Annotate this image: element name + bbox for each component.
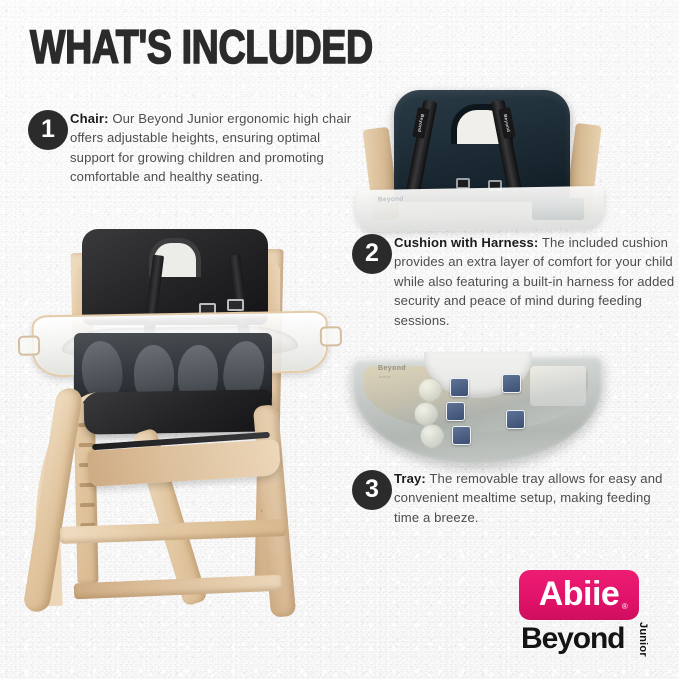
- tray-window-reflection: [530, 366, 586, 406]
- list-item-label: Chair:: [70, 111, 109, 126]
- page-title: WHAT'S INCLUDED: [30, 21, 373, 73]
- badge-number-1: 1: [28, 110, 68, 150]
- brand-logo: Abiie® Beyond Junior: [519, 570, 655, 666]
- cushion-tray-label: Beyond: [378, 196, 404, 204]
- logo-badge-abiie: Abiie®: [519, 570, 639, 620]
- tray-safety-icon: [452, 426, 471, 445]
- tray-reflection-circle: [420, 424, 444, 448]
- logo-trademark: ®: [622, 603, 627, 611]
- product-image-chair: [26, 205, 344, 665]
- chair-tray-arm-left: [18, 335, 40, 355]
- product-image-tray: Beyond Junior: [352, 356, 604, 464]
- logo-product-text: Beyond: [521, 624, 624, 654]
- list-item-text: Tray: The removable tray allows for easy…: [394, 469, 672, 527]
- tray-safety-icon: [446, 402, 465, 421]
- list-item-body: Our Beyond Junior ergonomic high chair o…: [70, 111, 351, 184]
- list-item-text: Cushion with Harness: The included cushi…: [394, 233, 679, 330]
- logo-product-suffix: Junior: [637, 622, 649, 657]
- badge-number-3: 3: [352, 470, 392, 510]
- list-item-text: Chair: Our Beyond Junior ergonomic high …: [70, 109, 352, 187]
- logo-brand-word: Abiie: [539, 575, 620, 613]
- tray-brand-sublabel: Junior: [378, 374, 391, 379]
- list-item-label: Cushion with Harness:: [394, 235, 538, 250]
- logo-brand-text: Abiie®: [539, 577, 620, 614]
- tray-safety-icon: [450, 378, 469, 397]
- chair-back-cushion: [82, 229, 268, 325]
- chair-tray-arm-right: [320, 326, 342, 346]
- product-image-cushion: Beyond Beyond Beyond: [352, 88, 618, 228]
- tray-brand-label: Beyond: [378, 365, 406, 372]
- tray-reflection-circle: [414, 402, 438, 426]
- list-item-body: The removable tray allows for easy and c…: [394, 471, 663, 525]
- tray-safety-icon: [506, 410, 525, 429]
- list-item-label: Tray:: [394, 471, 426, 486]
- badge-number-2: 2: [352, 234, 392, 274]
- tray-reflection-circle: [418, 378, 442, 402]
- chair-harness-buckle-right: [227, 299, 244, 311]
- tray-safety-icon: [502, 374, 521, 393]
- cushion-tray-insert: [532, 198, 584, 220]
